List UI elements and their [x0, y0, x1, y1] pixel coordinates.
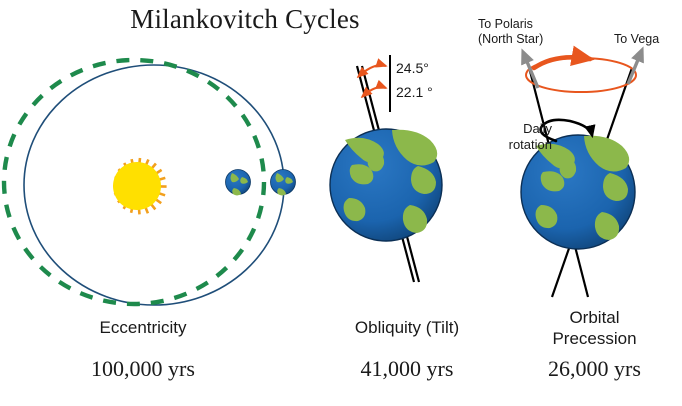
polaris-label: To Polaris (North Star) — [478, 17, 588, 47]
eccentricity-period: 100,000 yrs — [18, 356, 268, 382]
daily-rotation-line1: Daily — [486, 121, 552, 137]
precession-caption: Orbital Precession — [512, 307, 677, 349]
earth-marker-solid-orbit — [271, 170, 296, 196]
precession-caption-line1: Orbital — [512, 307, 677, 328]
daily-rotation-line2: rotation — [486, 137, 552, 153]
precession-direction-arrow — [534, 57, 590, 68]
precession-caption-line2: Precession — [512, 328, 677, 349]
precession-period: 26,000 yrs — [512, 356, 677, 382]
obliquity-angle-min-label: 22.1 ° — [396, 84, 433, 100]
vega-label: To Vega — [614, 32, 659, 46]
daily-rotation-label: Daily rotation — [486, 121, 552, 153]
precession-panel-graphic — [521, 50, 642, 297]
sun-icon — [113, 158, 167, 214]
milankovitch-cycles-diagram: Milankovitch Cycles — [0, 0, 682, 406]
eccentricity-caption: Eccentricity — [28, 317, 258, 338]
obliquity-angle-max-label: 24.5° — [396, 60, 429, 76]
earth-marker-dashed-orbit — [226, 170, 251, 196]
obliquity-period: 41,000 yrs — [312, 356, 502, 382]
polaris-label-line1: To Polaris — [478, 17, 588, 32]
obliquity-caption: Obliquity (Tilt) — [312, 317, 502, 338]
earth-globe-obliquity — [330, 129, 442, 248]
eccentricity-panel-graphic — [4, 60, 296, 305]
polaris-label-line2: (North Star) — [478, 32, 588, 47]
